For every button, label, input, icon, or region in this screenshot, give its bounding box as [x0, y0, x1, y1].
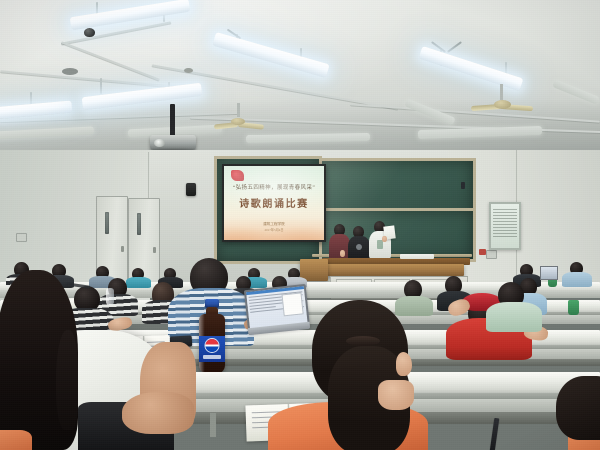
pepsi-label-text	[203, 355, 221, 359]
ceiling-fan-right-hub	[494, 100, 511, 109]
notice-line	[493, 230, 517, 231]
ceiling-smoke-detector	[184, 68, 193, 73]
wall-speaker-icon	[186, 183, 196, 196]
notice-line	[493, 236, 517, 237]
student-body-b7	[395, 296, 433, 316]
presenter-maroon-hand	[340, 250, 345, 257]
desk-leg-d2	[210, 413, 216, 437]
notice-line	[493, 215, 517, 216]
door-left-handle[interactable]	[121, 246, 124, 252]
projector-mount-pole	[170, 104, 175, 136]
blackboard-clip	[461, 182, 465, 189]
notice-line	[493, 212, 517, 213]
lamp-rod-3	[100, 78, 102, 94]
laptop-document-pane	[282, 292, 304, 316]
student-head-bottom-right-edge	[556, 376, 600, 440]
student-orange-ponytail-ear	[396, 352, 412, 376]
projector-lens-icon	[154, 139, 165, 147]
student-body-a4	[126, 277, 151, 288]
slide-red-emblem-icon	[231, 170, 244, 181]
student-body-a10	[562, 272, 592, 287]
wall-outlet-right	[486, 250, 497, 259]
slide-title: 诗歌朗诵比赛	[224, 199, 324, 211]
student-foreground-left-arm	[122, 392, 194, 434]
pepsi-logo-icon	[206, 339, 219, 352]
door-left-window-slot	[105, 212, 109, 234]
projection-screen-frame: “弘扬五四精神，展现青春风采” 诗歌朗诵比赛 建筑工程学院 2017年5月4日	[222, 164, 326, 242]
student-orange-far-left	[0, 430, 32, 450]
student-orange-ponytail-hairband	[346, 336, 380, 346]
classroom-photo: “弘扬五四精神，展现青春风采” 诗歌朗诵比赛 建筑工程学院 2017年5月4日	[0, 0, 600, 450]
slide-quote-line: “弘扬五四精神，展现青春风采”	[224, 185, 324, 192]
student-foreground-left-hair-strand	[56, 330, 78, 430]
door-right-window-slot	[137, 213, 141, 235]
notice-line	[493, 221, 517, 222]
dome-camera-icon	[84, 28, 95, 37]
lecture-podium	[326, 264, 464, 276]
ceiling-fan-right-stem	[500, 84, 503, 100]
student-orange-ponytail-neck	[378, 380, 414, 410]
wall-notice-schedule	[489, 202, 521, 250]
water-bottle-back	[106, 288, 114, 305]
presenter-maroon-shirt	[329, 234, 350, 260]
laptop-far-right	[540, 266, 558, 280]
ceiling-fan-center-stem	[237, 103, 240, 117]
pepsi-bottle	[199, 314, 225, 374]
podium-paper	[400, 254, 434, 259]
fire-alarm-box[interactable]	[479, 249, 486, 255]
student-mint-shirt	[486, 302, 542, 332]
notice-line	[493, 224, 517, 225]
projection-screen: “弘扬五四精神，展现青春风采” 诗歌朗诵比赛 建筑工程学院 2017年5月4日	[224, 166, 324, 240]
presenter-white-hand	[382, 236, 387, 242]
presenter-black-shirt-graphic	[356, 244, 362, 250]
ceiling-fan-center-hub	[231, 118, 245, 125]
green-cup-row-b	[568, 300, 579, 315]
door-right-handle[interactable]	[153, 247, 156, 253]
notice-line	[493, 227, 517, 228]
pepsi-bottle-label	[199, 336, 225, 362]
wall-outlet-left	[16, 233, 27, 242]
notice-line	[493, 218, 517, 219]
slide-decorative-wave	[224, 218, 324, 240]
ceiling-vent-plate	[62, 68, 78, 75]
slide-subtitle-1: 建筑工程学院	[224, 222, 324, 227]
slide-subtitle-2: 2017年5月4日	[224, 228, 324, 232]
notice-line	[493, 233, 517, 234]
notice-line	[493, 209, 517, 210]
